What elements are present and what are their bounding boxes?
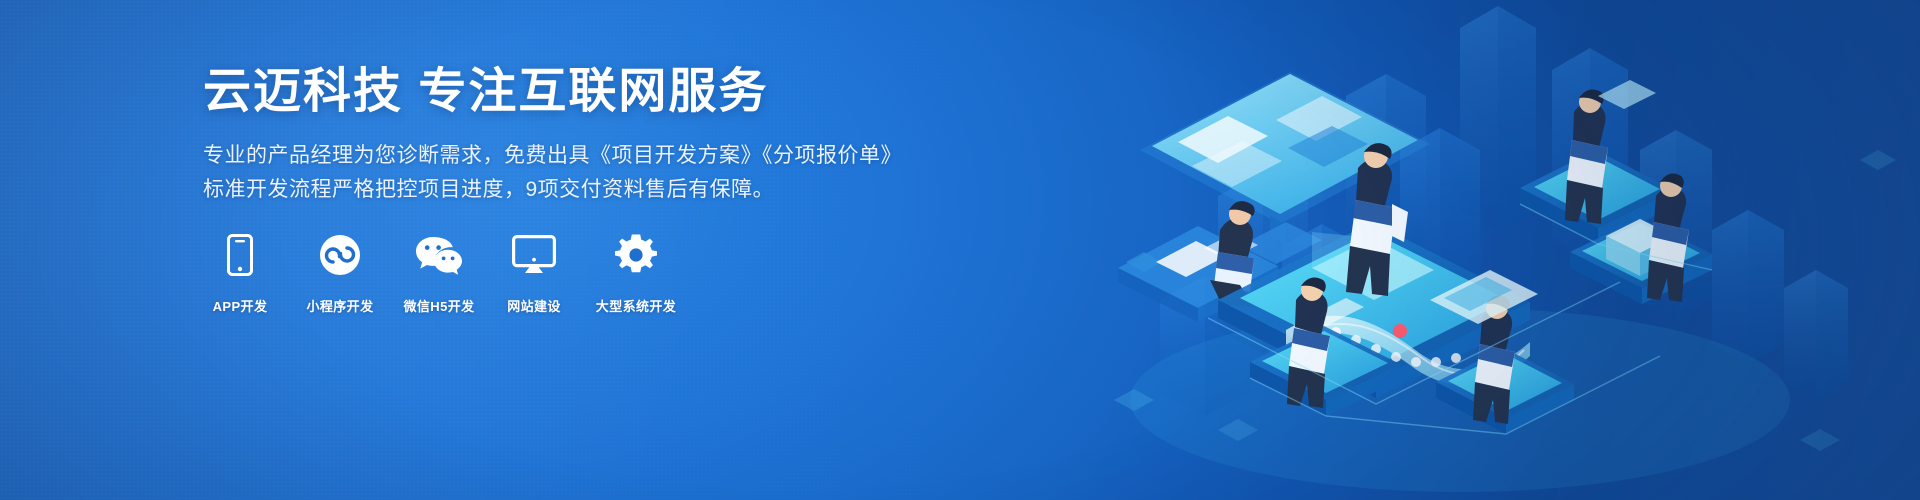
hero-illustration [1100,0,1920,500]
service-item-miniprogram[interactable]: 小程序开发 [303,232,377,315]
mobile-phone-icon [227,232,253,278]
subtitle-line-1: 专业的产品经理为您诊断需求，免费出具《项目开发方案》《分项报价单》 [203,139,923,173]
wechat-icon [415,232,463,278]
mini-program-icon [319,232,361,278]
service-item-website[interactable]: 网站建设 [497,232,571,315]
service-label-app: APP开发 [213,296,268,315]
hero-banner: 云迈科技 专注互联网服务 专业的产品经理为您诊断需求，免费出具《项目开发方案》《… [0,0,1920,500]
service-label-website: 网站建设 [507,296,561,315]
service-list: APP开发 小程序开发 [203,232,681,315]
hero-copy: 云迈科技 专注互联网服务 专业的产品经理为您诊断需求，免费出具《项目开发方案》《… [203,66,923,207]
service-label-system: 大型系统开发 [596,296,676,315]
service-item-system[interactable]: 大型系统开发 [591,232,681,315]
service-item-app[interactable]: APP开发 [203,232,277,315]
gear-icon [615,232,657,278]
subtitle-line-2: 标准开发流程严格把控项目进度，9项交付资料售后有保障。 [203,173,923,207]
service-label-miniprogram: 小程序开发 [306,296,373,315]
page-title: 云迈科技 专注互联网服务 [203,66,923,119]
service-item-wechat[interactable]: 微信H5开发 [399,232,479,315]
monitor-icon [512,232,556,278]
hero-subtitle: 专业的产品经理为您诊断需求，免费出具《项目开发方案》《分项报价单》 标准开发流程… [203,139,923,207]
service-label-wechat: 微信H5开发 [403,296,474,315]
